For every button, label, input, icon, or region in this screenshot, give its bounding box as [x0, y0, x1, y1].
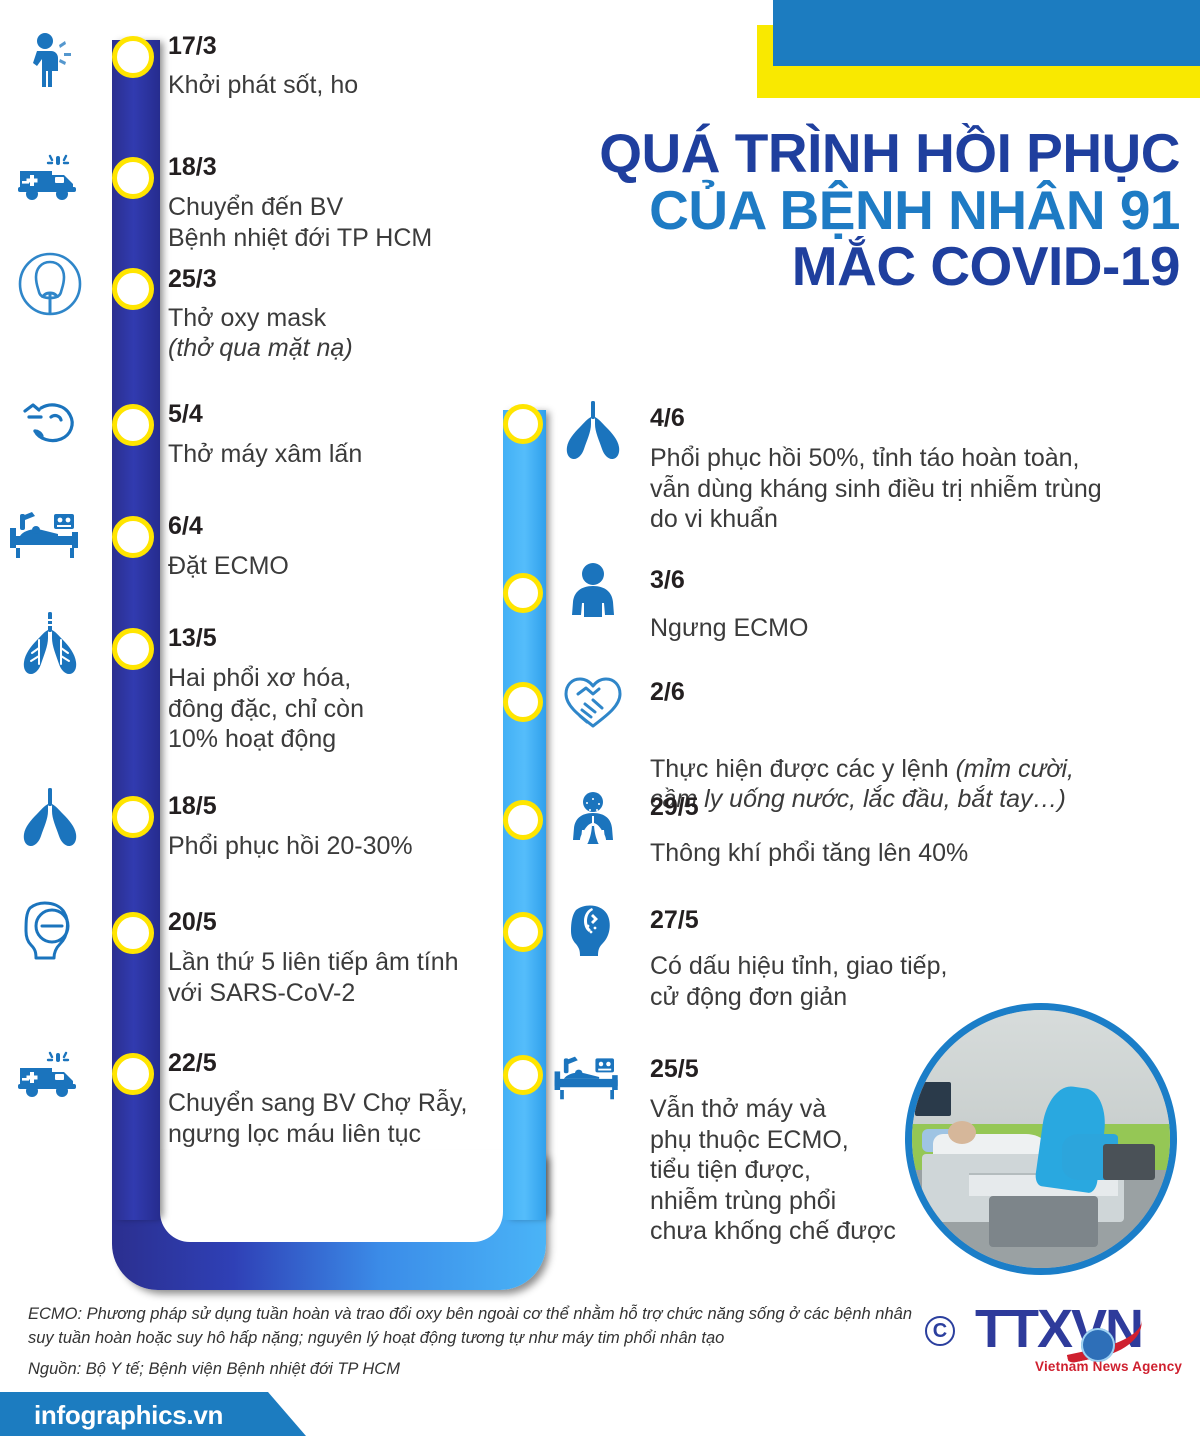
timeline-date: 4/6	[650, 404, 685, 433]
timeline-desc: Phổi phục hồi 20-30%	[168, 831, 528, 862]
timeline-dot	[112, 628, 154, 670]
timeline-date: 25/5	[650, 1055, 699, 1084]
person-torso-icon	[553, 558, 633, 622]
timeline-desc: Thực hiện được các y lệnh	[650, 755, 956, 783]
timeline-bend	[112, 1150, 546, 1290]
lungs-icon	[10, 785, 90, 849]
ambulance-icon	[10, 145, 90, 209]
timeline-desc: Chuyển đến BV Bệnh nhiệt đới TP HCM	[168, 192, 508, 253]
timeline-dot	[112, 796, 154, 838]
lungs-solid-icon	[553, 398, 633, 462]
torso-lungs-icon	[553, 788, 633, 852]
icu-bed-icon	[548, 1045, 628, 1109]
timeline-desc: Hai phổi xơ hóa, đông đặc, chỉ còn 10% h…	[168, 663, 508, 755]
ttxvn-logo-subtitle: Vietnam News Agency	[1035, 1359, 1182, 1374]
timeline-date: 22/5	[168, 1049, 217, 1078]
page-title: QUÁ TRÌNH HỒI PHỤC CỦA BỆNH NHÂN 91 MẮC …	[440, 125, 1180, 295]
timeline-desc: Đặt ECMO	[168, 551, 508, 582]
timeline-date: 13/5	[168, 624, 217, 653]
title-line-2: CỦA BỆNH NHÂN 91	[440, 182, 1180, 239]
timeline-date: 5/4	[168, 400, 203, 429]
head-brain-icon	[553, 898, 633, 962]
timeline-dot	[503, 912, 543, 952]
ambulance-icon	[10, 1042, 90, 1106]
timeline-date: 29/5	[650, 793, 699, 822]
handshake-heart-icon	[553, 670, 633, 734]
patient-photo	[905, 1003, 1177, 1275]
timeline-date: 3/6	[650, 566, 685, 595]
timeline-desc: Phổi phục hồi 50%, tỉnh táo hoàn toàn, v…	[650, 443, 1180, 535]
timeline-dot	[503, 404, 543, 444]
bottom-bar-tab	[268, 1392, 306, 1436]
timeline-desc: Lần thứ 5 liên tiếp âm tính với SARS-CoV…	[168, 947, 548, 1008]
timeline-dot	[112, 157, 154, 199]
timeline-dot	[503, 800, 543, 840]
timeline-desc: Có dấu hiệu tỉnh, giao tiếp, cử động đơn…	[650, 951, 1070, 1012]
timeline-date: 20/5	[168, 908, 217, 937]
timeline-bend-cutout	[160, 1150, 503, 1242]
intubation-hand-icon	[10, 392, 90, 456]
footer-source: Nguồn: Bộ Y tế; Bệnh viện Bệnh nhiệt đới…	[28, 1360, 400, 1379]
timeline-date: 27/5	[650, 906, 699, 935]
title-line-3: MẮC COVID-19	[440, 238, 1180, 295]
timeline-date: 18/3	[168, 153, 217, 182]
timeline-dot	[112, 516, 154, 558]
timeline-dot	[112, 1053, 154, 1095]
timeline-desc: Ngưng ECMO	[650, 613, 1080, 644]
infographic-canvas: QUÁ TRÌNH HỒI PHỤC CỦA BỆNH NHÂN 91 MẮC …	[0, 0, 1200, 1436]
oxygen-mask-icon	[10, 252, 90, 316]
timeline-dot	[112, 268, 154, 310]
head-negative-test-icon	[10, 897, 90, 961]
timeline-date: 2/6	[650, 678, 685, 707]
timeline-date: 17/3	[168, 32, 217, 61]
timeline-date: 18/5	[168, 792, 217, 821]
photo-ecmo-machine	[989, 1196, 1097, 1248]
copyright-icon: C	[925, 1316, 955, 1346]
timeline-dot	[503, 573, 543, 613]
decor-blue-block	[773, 0, 1200, 66]
timeline-dot	[112, 912, 154, 954]
ttxvn-logo: TTXVN Vietnam News Agency	[975, 1302, 1190, 1374]
timeline-desc: Chuyển sang BV Chợ Rẫy, ngưng lọc máu li…	[168, 1088, 548, 1149]
timeline-desc: Khởi phát sốt, ho	[168, 70, 488, 101]
title-line-1: QUÁ TRÌNH HỒI PHỤC	[440, 125, 1180, 182]
timeline-dot	[112, 36, 154, 78]
timeline-desc: Thông khí phổi tăng lên 40%	[650, 838, 1140, 869]
timeline-desc: Vẫn thở máy và phụ thuộc ECMO, tiểu tiện…	[650, 1094, 900, 1247]
bottom-bar-white	[306, 1392, 1200, 1436]
timeline-desc-italic: (thở qua mặt nạ)	[168, 333, 528, 364]
timeline-desc: Thở oxy mask	[168, 303, 508, 334]
timeline-dot	[503, 1055, 543, 1095]
photo-monitor	[915, 1082, 951, 1116]
timeline-date: 25/3	[168, 265, 217, 294]
ttxvn-globe-icon	[1081, 1328, 1115, 1362]
photo-equipment-cart	[1103, 1144, 1155, 1180]
timeline-date: 6/4	[168, 512, 203, 541]
timeline-dot	[112, 404, 154, 446]
site-label: infographics.vn	[34, 1400, 223, 1431]
person-coughing-icon	[10, 28, 90, 92]
icu-bed-icon	[6, 502, 86, 566]
lungs-detailed-icon	[10, 612, 90, 676]
footer-ecmo-note: ECMO: Phương pháp sử dụng tuần hoàn và t…	[28, 1303, 928, 1351]
timeline-desc: Thở máy xâm lấn	[168, 439, 508, 470]
timeline-dot	[503, 682, 543, 722]
